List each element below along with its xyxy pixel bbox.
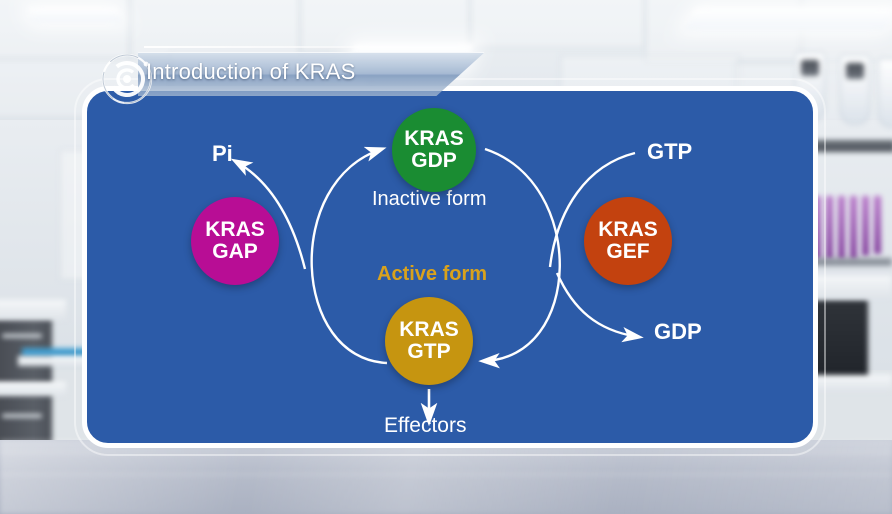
glassware <box>862 196 869 256</box>
label-gdp: GDP <box>654 319 702 345</box>
node-kras-gap[interactable]: KRAS GAP <box>191 197 279 285</box>
left-counter <box>0 382 66 396</box>
title-banner: Introduction of KRAS <box>100 52 485 96</box>
hanging-equipment-head <box>801 60 819 76</box>
arrow-gdp-to-gtp <box>483 149 560 361</box>
ceiling-light <box>685 8 892 30</box>
cabinet-handle <box>2 414 42 418</box>
page-title: Introduction of KRAS <box>146 59 355 85</box>
arrow-gtp-to-gdp <box>312 149 387 363</box>
node-kras-gtp-line2: GTP <box>407 341 450 363</box>
node-kras-gtp[interactable]: KRAS GTP <box>385 297 473 385</box>
node-kras-gdp[interactable]: KRAS GDP <box>392 108 476 192</box>
kras-cycle-diagram: KRAS GDP KRAS GAP KRAS GEF KRAS GTP Inac… <box>82 86 818 448</box>
node-kras-gap-line2: GAP <box>212 241 258 263</box>
node-kras-gdp-line2: GDP <box>411 150 457 172</box>
node-kras-gap-line1: KRAS <box>205 219 265 241</box>
node-kras-gef[interactable]: KRAS GEF <box>584 197 672 285</box>
label-active-form: Active form <box>377 263 487 286</box>
hanging-equipment-head <box>846 63 864 79</box>
ceiling-tile <box>130 0 300 60</box>
glassware <box>874 196 881 254</box>
node-kras-gdp-line1: KRAS <box>404 128 464 150</box>
node-kras-gtp-line1: KRAS <box>399 319 459 341</box>
ceiling-light <box>28 8 121 22</box>
glassware <box>850 196 857 260</box>
title-banner-underline <box>144 46 409 48</box>
cabinet-handle <box>2 334 42 338</box>
hanging-equipment <box>878 58 892 128</box>
label-gtp: GTP <box>647 139 692 165</box>
node-kras-gef-line1: KRAS <box>598 219 658 241</box>
glassware <box>826 196 833 260</box>
glassware <box>838 196 845 260</box>
node-kras-gef-line2: GEF <box>606 241 649 263</box>
left-counter <box>0 300 66 320</box>
ceiling-tile <box>470 0 645 48</box>
diagram-panel-wrapper: KRAS GDP KRAS GAP KRAS GEF KRAS GTP Inac… <box>82 86 818 448</box>
label-effectors: Effectors <box>384 414 466 438</box>
label-pi: Pi <box>212 141 233 167</box>
